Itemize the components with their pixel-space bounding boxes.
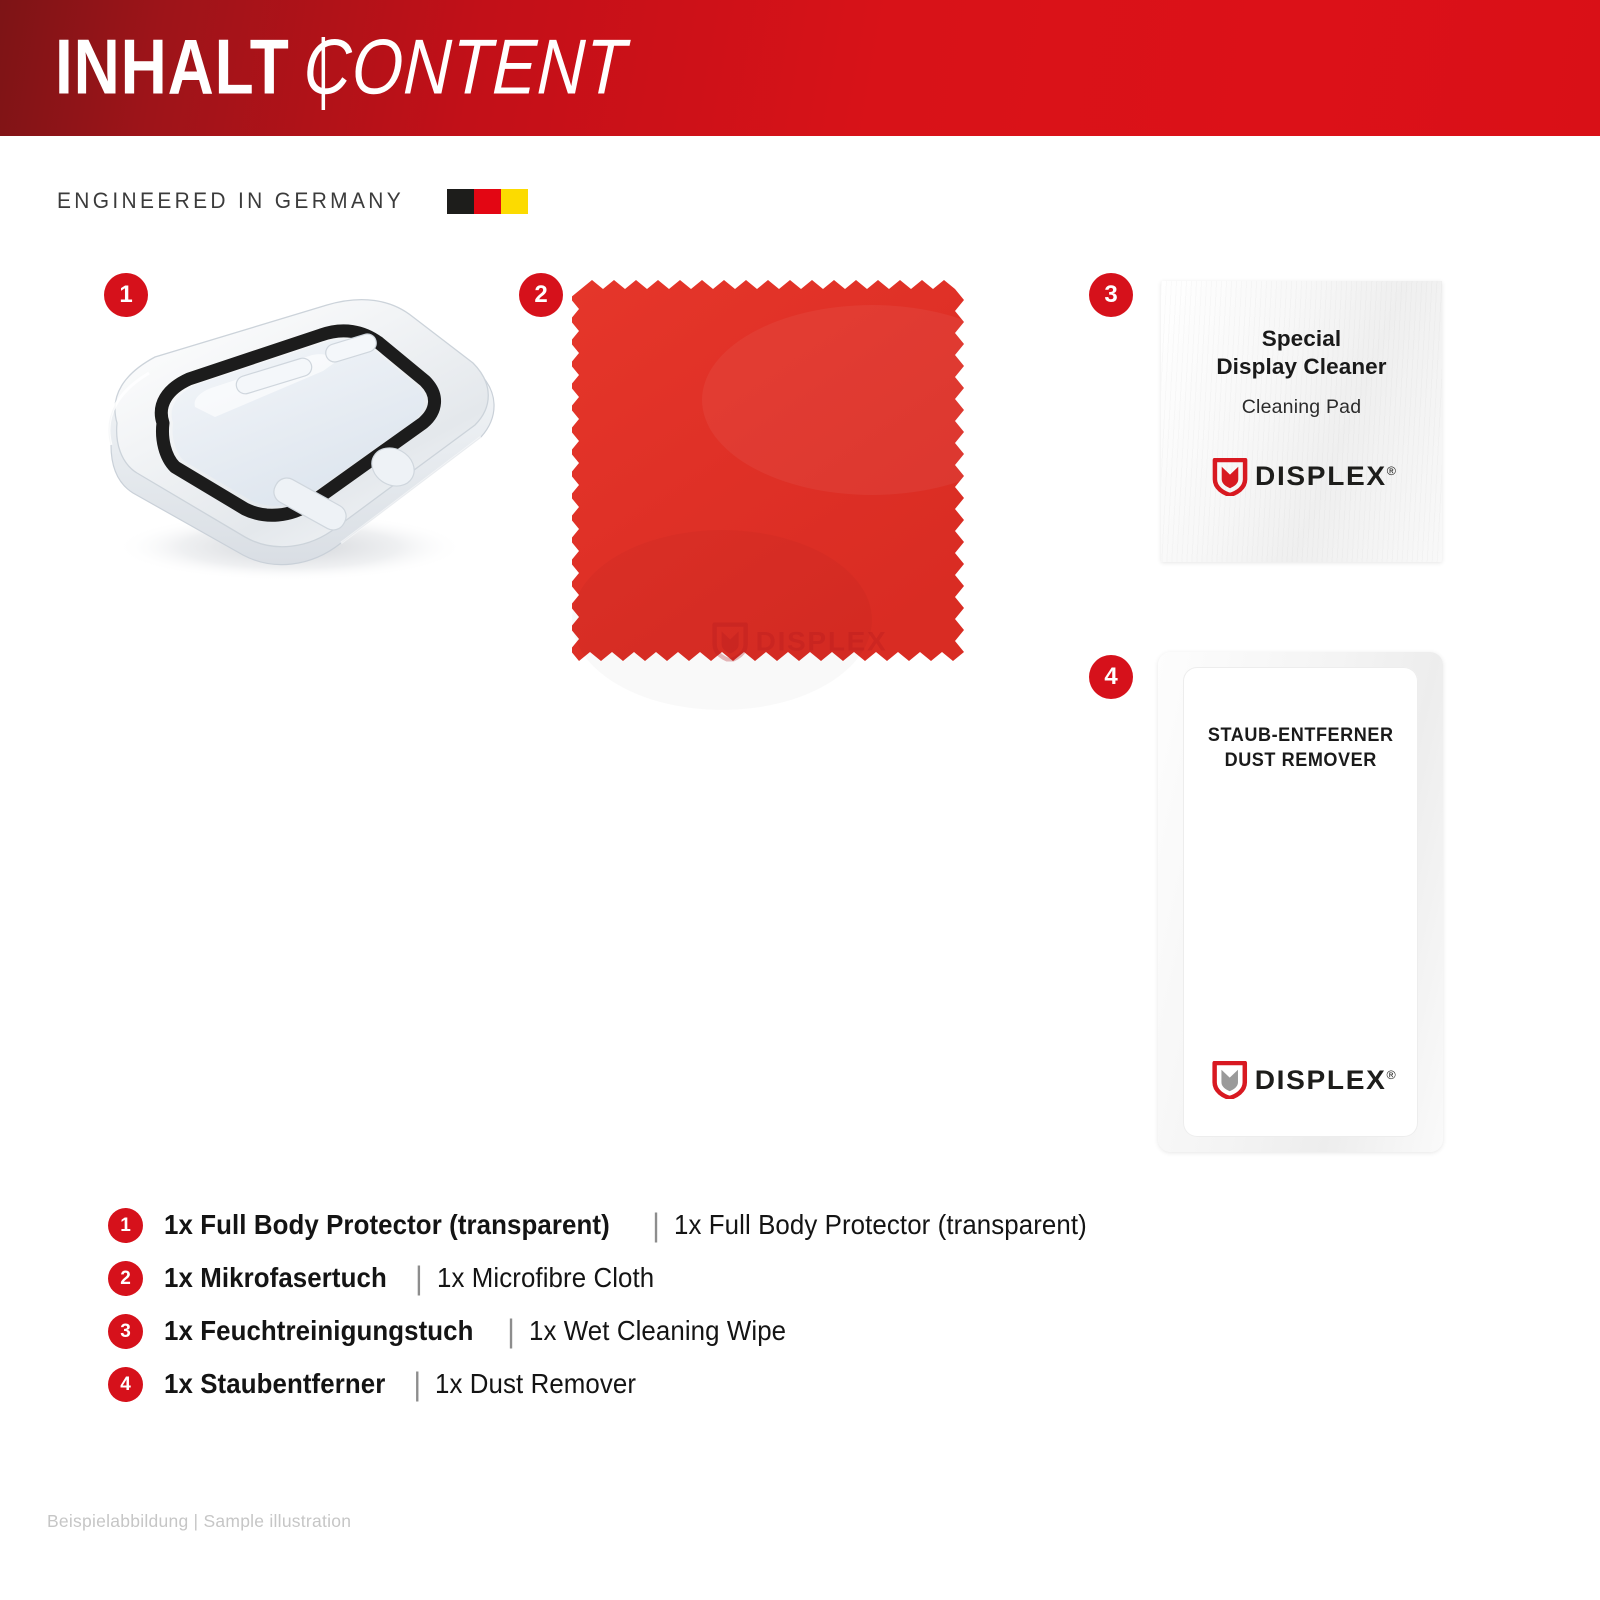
sachet-title: Special Display Cleaner [1216, 325, 1386, 382]
legend-separator: | [507, 1314, 515, 1351]
legend-text-4: 1x Staubentferner | 1x Dust Remover [164, 1368, 649, 1401]
dust-remover-title-en: DUST REMOVER [1208, 748, 1394, 773]
legend-row: 2 1x Mikrofasertuch | 1x Microfibre Clot… [108, 1252, 1308, 1305]
legend-text-2: 1x Mikrofasertuch | 1x Microfibre Cloth [164, 1262, 668, 1295]
legend-separator: | [415, 1261, 423, 1298]
engineered-in-germany: ENGINEERED IN GERMANY [57, 186, 528, 216]
legend-badge-3: 3 [108, 1314, 143, 1349]
dust-brand-name: DISPLEX® [1254, 1067, 1395, 1094]
badge-1: 1 [104, 273, 148, 317]
legend-en-4: 1x Dust Remover [435, 1368, 636, 1400]
sample-illustration-note: Beispielabbildung | Sample illustration [47, 1511, 351, 1532]
full-body-protector-image [75, 295, 525, 595]
page-title: INHALT | CONTENT [55, 27, 688, 105]
dust-remover-title: STAUB-ENTFERNER DUST REMOVER [1208, 723, 1394, 773]
legend-de-1: 1x Full Body Protector (transparent) [164, 1209, 610, 1241]
displex-shield-icon [712, 622, 749, 661]
header-banner: INHALT | CONTENT [0, 0, 1600, 136]
legend-en-2: 1x Microfibre Cloth [437, 1262, 654, 1294]
dust-remover-package: STAUB-ENTFERNER DUST REMOVER DISPLEX® [1158, 652, 1443, 1152]
displex-shield-icon [1211, 1061, 1247, 1099]
legend-badge-2: 2 [108, 1261, 143, 1296]
badge-4: 4 [1089, 655, 1133, 699]
registered-mark: ® [1386, 1068, 1395, 1082]
cleaning-pad-sachet: Special Display Cleaner Cleaning Pad DIS… [1161, 281, 1442, 562]
cloth-illustration [572, 280, 1022, 735]
page-title-en: CONTENT [303, 27, 629, 105]
legend-row: 4 1x Staubentferner | 1x Dust Remover [108, 1358, 1308, 1411]
legend-row: 3 1x Feuchtreinigungstuch | 1x Wet Clean… [108, 1305, 1308, 1358]
legend-en-3: 1x Wet Cleaning Wipe [529, 1315, 786, 1347]
badge-2: 2 [519, 273, 563, 317]
badge-3: 3 [1089, 273, 1133, 317]
dust-remover-displex-logo: DISPLEX® [1211, 1061, 1390, 1099]
sachet-title-line1: Special [1216, 325, 1386, 353]
sachet-brand-name: DISPLEX® [1255, 463, 1396, 490]
microfibre-cloth-image: DISPLEX [572, 280, 1022, 735]
legend-list: 1 1x Full Body Protector (transparent) |… [108, 1199, 1308, 1411]
displex-shield-icon [1212, 458, 1248, 496]
registered-mark: ® [1387, 464, 1396, 478]
cloth-displex-watermark: DISPLEX [712, 622, 883, 661]
sachet-subtitle: Cleaning Pad [1242, 396, 1362, 419]
legend-text-1: 1x Full Body Protector (transparent) | 1… [164, 1209, 1113, 1242]
legend-row: 1 1x Full Body Protector (transparent) |… [108, 1199, 1308, 1252]
watch-case-illustration [75, 295, 525, 595]
legend-de-4: 1x Staubentferner [164, 1368, 385, 1400]
legend-de-2: 1x Mikrofasertuch [164, 1262, 387, 1294]
page-title-de: INHALT [55, 27, 290, 105]
sachet-title-line2: Display Cleaner [1216, 353, 1386, 381]
dust-remover-label: STAUB-ENTFERNER DUST REMOVER DISPLEX® [1183, 667, 1418, 1137]
legend-text-3: 1x Feuchtreinigungstuch | 1x Wet Cleanin… [164, 1315, 802, 1348]
legend-separator: | [652, 1208, 660, 1245]
content-sheet: INHALT | CONTENT ENGINEERED IN GERMANY 1… [0, 0, 1600, 1600]
legend-en-1: 1x Full Body Protector (transparent) [674, 1209, 1087, 1241]
engineered-label: ENGINEERED IN GERMANY [57, 188, 404, 214]
cloth-brand-name: DISPLEX [756, 628, 888, 655]
legend-separator: | [414, 1367, 422, 1404]
german-flag-icon [447, 189, 528, 214]
legend-badge-4: 4 [108, 1367, 143, 1402]
legend-badge-1: 1 [108, 1208, 143, 1243]
sachet-displex-logo: DISPLEX® [1212, 458, 1391, 496]
legend-de-3: 1x Feuchtreinigungstuch [164, 1315, 474, 1347]
dust-remover-title-de: STAUB-ENTFERNER [1208, 723, 1394, 748]
